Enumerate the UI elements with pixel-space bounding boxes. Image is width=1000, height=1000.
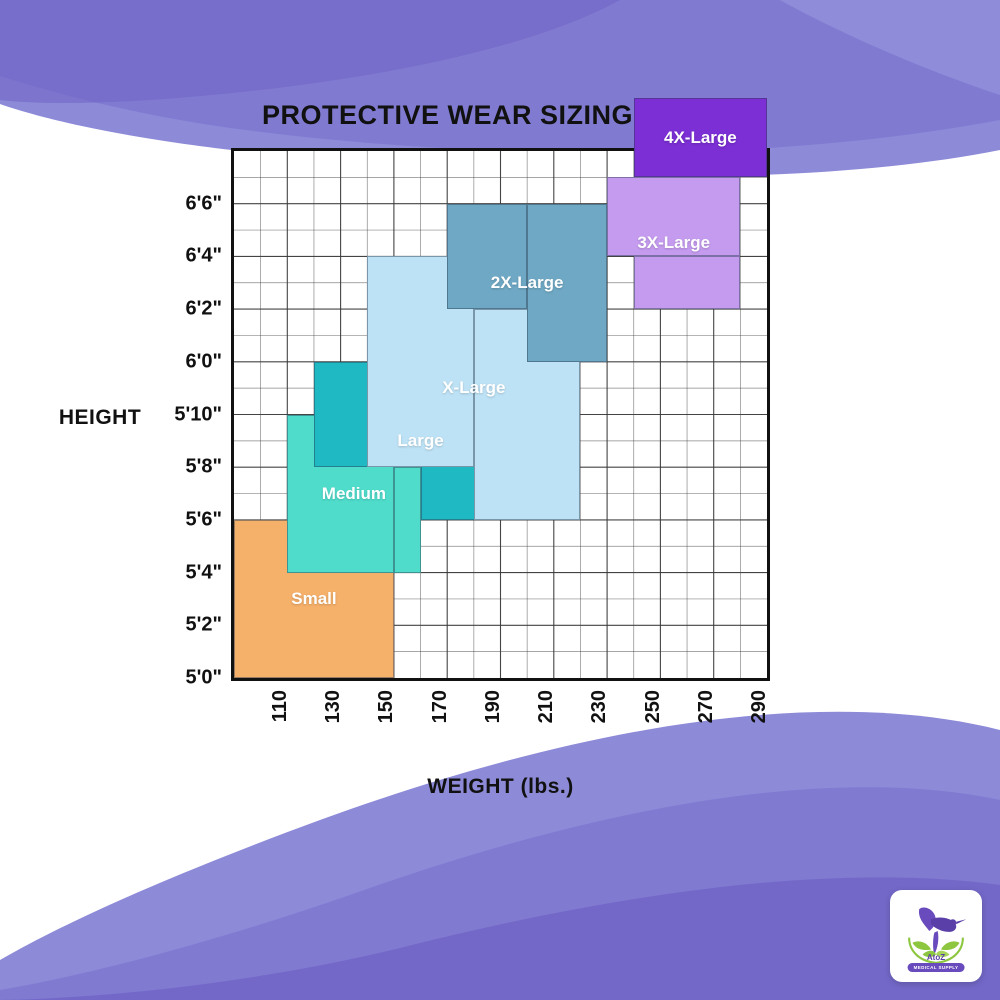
- x-tick-label: 110: [269, 690, 292, 722]
- size-region-label: Large: [397, 431, 443, 451]
- size-region-label: 4X-Large: [664, 128, 737, 148]
- x-tick-label: 230: [588, 690, 611, 723]
- size-region-label: 3X-Large: [637, 233, 710, 253]
- logo-wordmark: AtoZ: [890, 953, 982, 962]
- x-tick-label: 170: [429, 690, 452, 723]
- y-tick-label: 6'4": [186, 245, 222, 268]
- size-region-label: Small: [291, 589, 336, 609]
- x-tick-label: 270: [695, 690, 718, 723]
- chart-plot-area: SmallMediumLargeX-Large2X-Large3X-Large4…: [231, 148, 770, 681]
- y-tick-label: 5'6": [186, 508, 222, 531]
- size-region-2x-large: [447, 204, 527, 309]
- sizing-chart-page: PROTECTIVE WEAR SIZING CHART HEIGHT WEIG…: [0, 0, 1000, 1000]
- size-region-label: 2X-Large: [491, 273, 564, 293]
- y-tick-label: 5'4": [186, 561, 222, 584]
- x-tick-label: 250: [642, 690, 665, 723]
- brand-logo: AtoZ MEDICAL SUPPLY: [890, 890, 982, 982]
- x-tick-label: 290: [748, 690, 771, 723]
- y-tick-label: 5'2": [186, 614, 222, 637]
- size-region-label: Medium: [322, 484, 386, 504]
- y-tick-label: 5'0": [186, 667, 222, 690]
- x-tick-label: 150: [375, 690, 398, 723]
- page-title: PROTECTIVE WEAR SIZING CHART: [0, 100, 1000, 131]
- size-region-medium: [394, 467, 421, 572]
- y-tick-label: 6'2": [186, 298, 222, 321]
- logo-tagline: MEDICAL SUPPLY: [908, 963, 965, 972]
- y-tick-label: 6'0": [186, 350, 222, 373]
- y-axis-tick-labels: 5'0"5'2"5'4"5'6"5'8"5'10"6'0"6'2"6'4"6'6…: [150, 148, 222, 681]
- x-tick-label: 210: [535, 690, 558, 723]
- y-tick-label: 5'8": [186, 456, 222, 479]
- y-tick-label: 6'6": [186, 192, 222, 215]
- x-tick-label: 130: [322, 690, 345, 723]
- y-tick-label: 5'10": [174, 403, 222, 426]
- x-axis-title: WEIGHT (lbs.): [231, 775, 770, 799]
- size-region-label: X-Large: [442, 378, 505, 398]
- size-region-3x-large: [634, 256, 741, 309]
- y-axis-title: HEIGHT: [30, 406, 170, 430]
- x-axis-tick-labels: 110130150170190210230250270290: [231, 690, 770, 770]
- x-tick-label: 190: [482, 690, 505, 723]
